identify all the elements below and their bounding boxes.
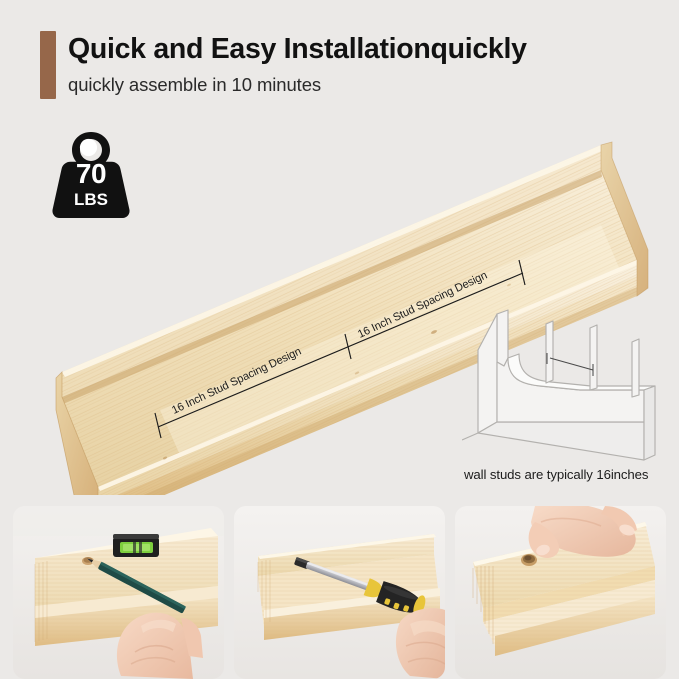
panel-hand-holding-shelf bbox=[455, 506, 666, 679]
accent-bar bbox=[40, 31, 56, 99]
photo-strip bbox=[0, 506, 679, 679]
hand-holding-shelf-icon bbox=[455, 506, 666, 679]
panel-screwdriver bbox=[234, 506, 445, 679]
wall-stud-diagram: 16" bbox=[462, 300, 672, 475]
stud-diagram-caption: wall studs are typically 16inches bbox=[464, 467, 648, 482]
wall-stud-diagram-icon bbox=[462, 300, 672, 475]
panel-level-and-pencil bbox=[13, 506, 224, 679]
page-subtitle: quickly assemble in 10 minutes bbox=[68, 74, 321, 96]
hand-with-screwdriver-icon bbox=[234, 506, 445, 679]
page-title: Quick and Easy Installationquickly bbox=[68, 33, 527, 66]
product-infographic: Quick and Easy Installationquickly quick… bbox=[0, 0, 679, 679]
hand-with-pencil-and-level-icon bbox=[13, 506, 224, 679]
header: Quick and Easy Installationquickly quick… bbox=[0, 0, 679, 120]
